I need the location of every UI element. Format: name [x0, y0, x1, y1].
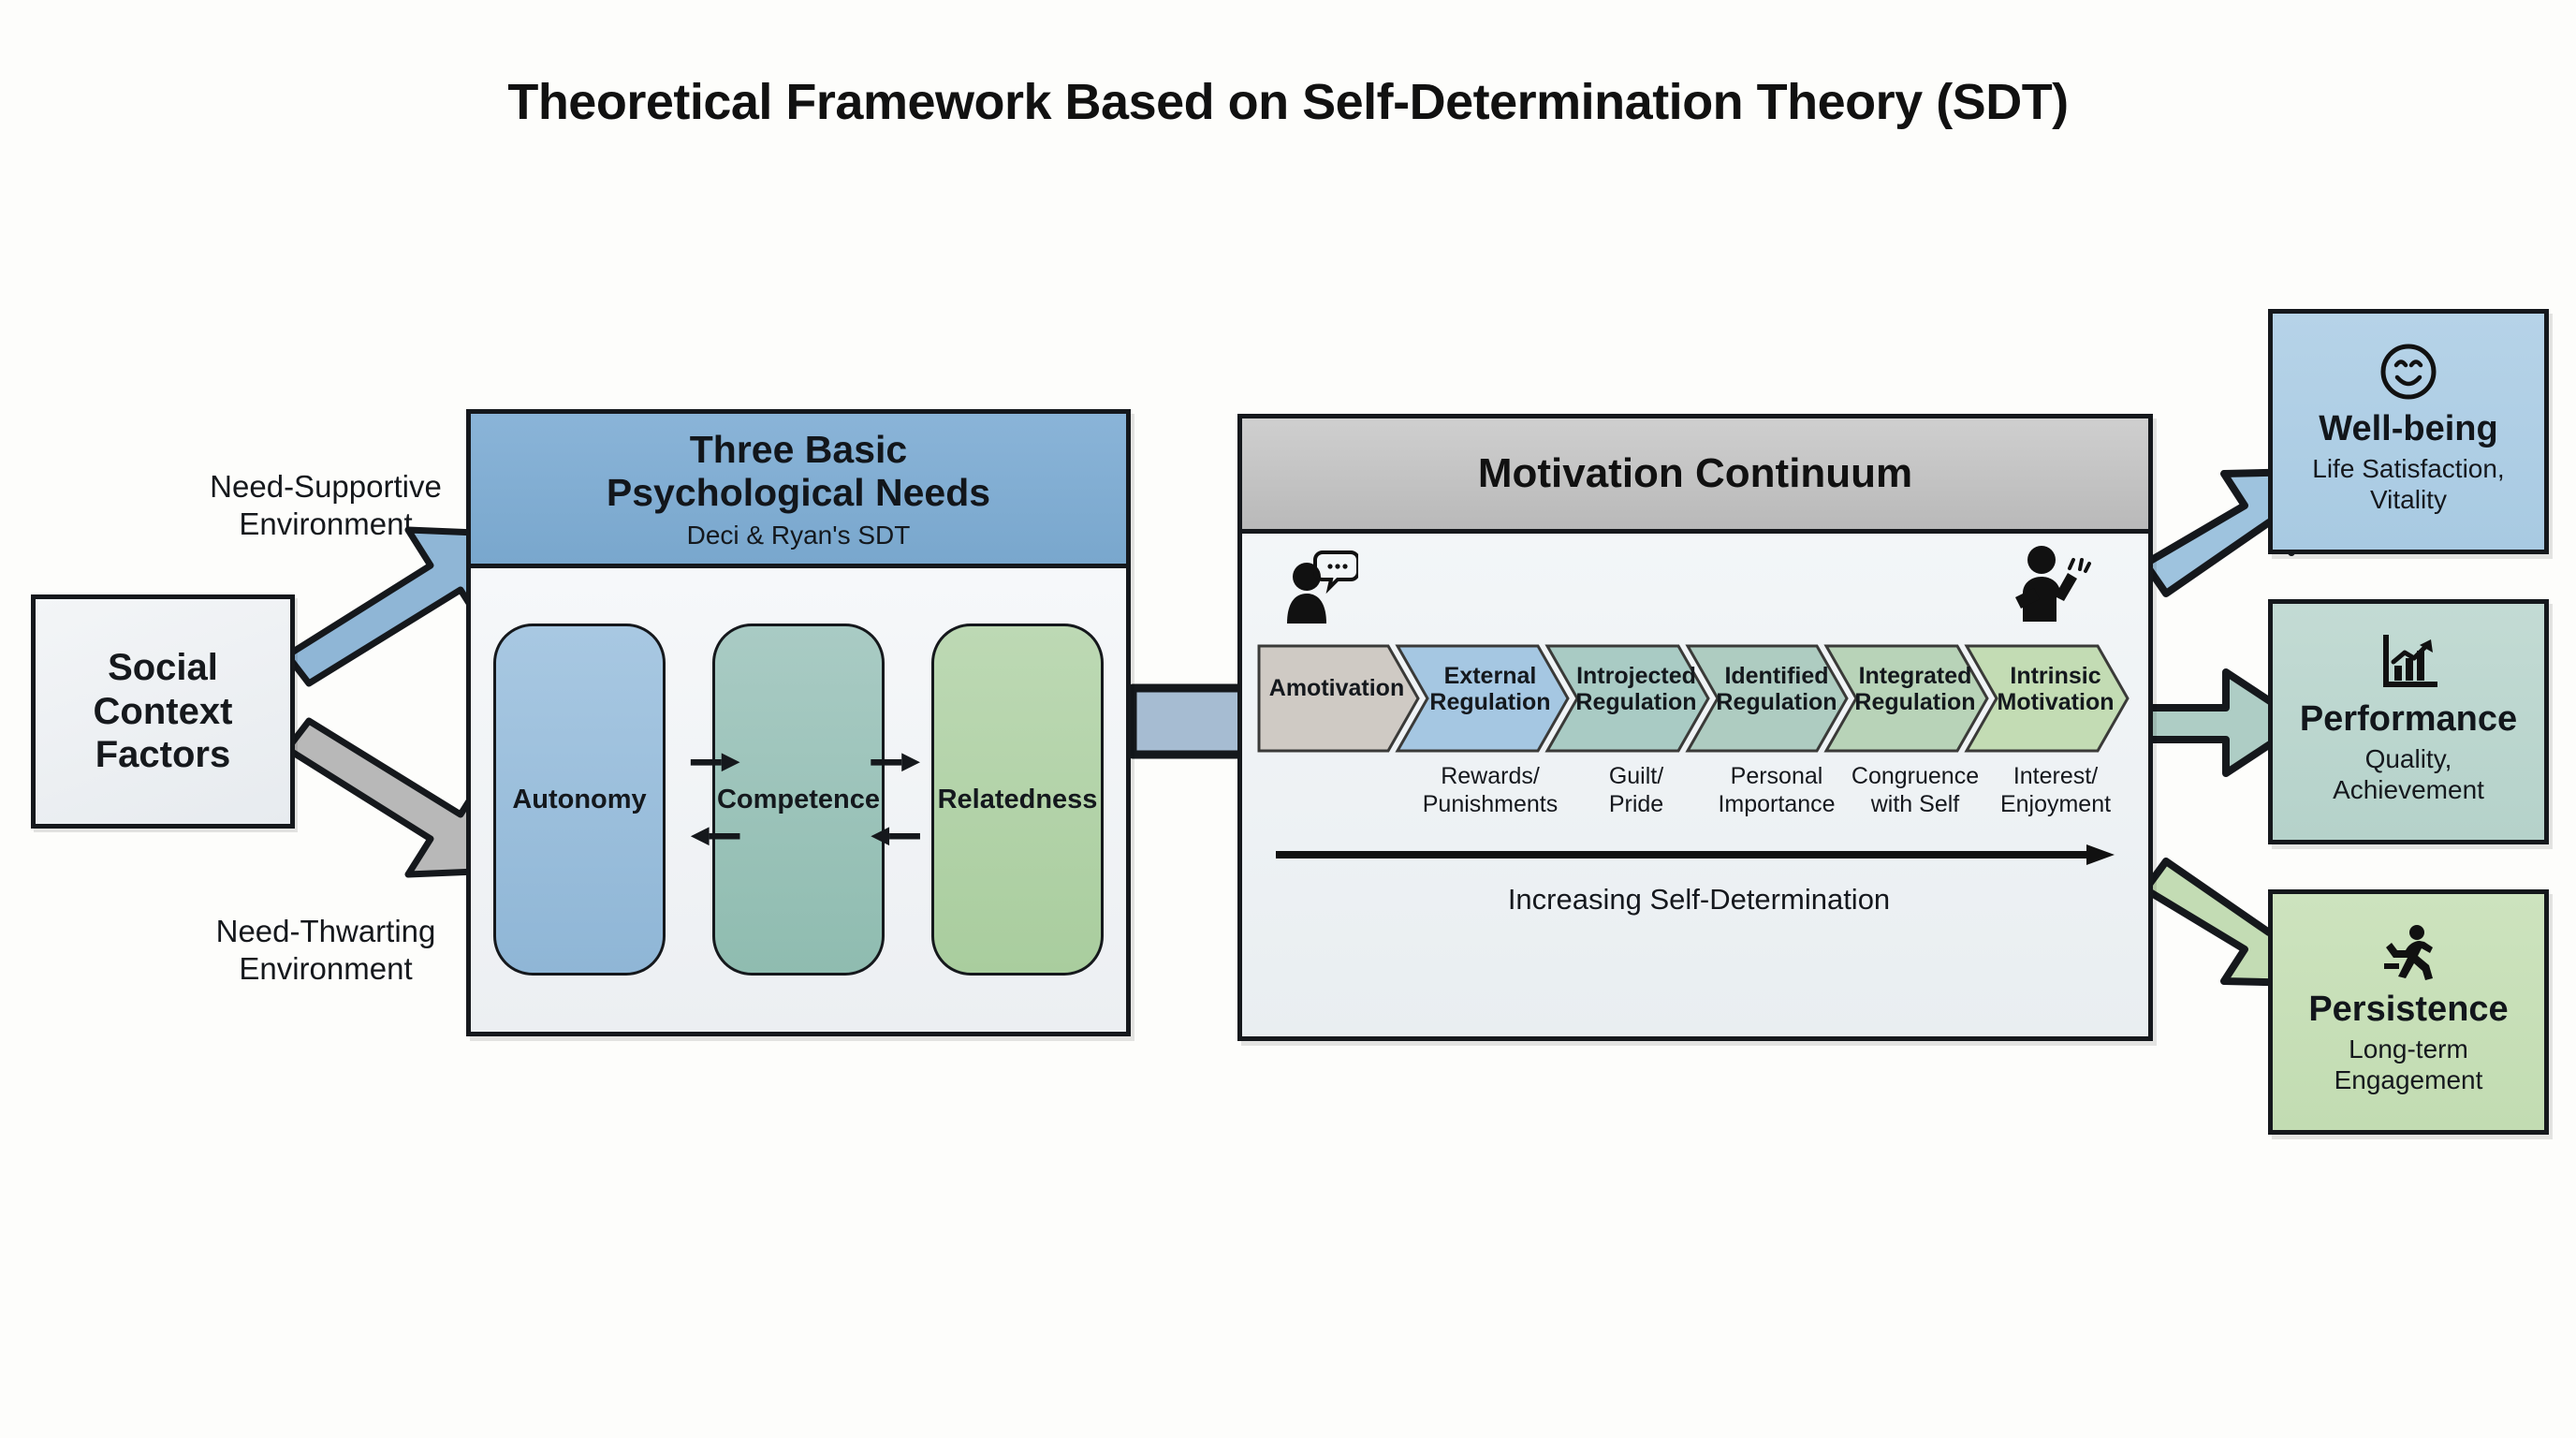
self-determination-axis: Increasing Self-Determination [1274, 843, 2124, 917]
stage-caption-introjected-regulation: Guilt/ Pride [1559, 762, 1714, 818]
outcome-box-persistence: Persistence Long-term Engagement [2268, 889, 2549, 1135]
social-context-factors-box: Social Context Factors [31, 594, 295, 829]
self-determination-axis-label: Increasing Self-Determination [1274, 883, 2124, 917]
stage-caption-integrated-regulation: Congruence with Self [1839, 762, 1991, 818]
stage-label-integrated-regulation: Integrated Regulation [1839, 663, 1991, 715]
person-speech-bubble-icon [1278, 545, 1358, 630]
outcome-subtitle-performance: Quality, Achievement [2333, 743, 2484, 806]
need-label-competence: Competence [717, 785, 880, 815]
needs-panel-heading: Three Basic Psychological Needs [480, 429, 1117, 515]
stage-label-amotivation: Amotivation [1261, 676, 1412, 702]
need-label-relatedness: Relatedness [938, 785, 1098, 815]
outcome-box-wellbeing: Well-being Life Satisfaction, Vitality [2268, 309, 2549, 554]
smiley-face-icon [2378, 342, 2438, 406]
motivation-continuum-heading: Motivation Continuum [1478, 450, 1912, 497]
motivation-continuum-body: Amotivation External Regulation Introjec… [1242, 534, 2148, 1036]
stage-label-intrinsic-motivation: Intrinsic Motivation [1980, 663, 2131, 715]
outcome-subtitle-persistence: Long-term Engagement [2334, 1034, 2483, 1096]
need-pill-relatedness: Relatedness [931, 624, 1104, 976]
outcome-title-performance: Performance [2300, 700, 2517, 740]
stage-caption-identified-regulation: Personal Importance [1701, 762, 1852, 818]
outcome-box-performance: Performance Quality, Achievement [2268, 599, 2549, 844]
running-person-icon [2378, 922, 2438, 987]
three-basic-needs-panel: Three Basic Psychological Needs Deci & R… [466, 409, 1131, 1036]
outcome-subtitle-wellbeing: Life Satisfaction, Vitality [2312, 453, 2504, 516]
needs-panel-subheading: Deci & Ryan's SDT [480, 521, 1117, 550]
outcome-title-wellbeing: Well-being [2319, 410, 2497, 449]
stage-caption-intrinsic-motivation: Interest/ Enjoyment [1980, 762, 2131, 818]
continuum-caption-row: Rewards/ Punishments Guilt/ Pride Person… [1257, 762, 2133, 828]
need-supportive-environment-label: Need-Supportive Environment [176, 468, 476, 542]
diagram-canvas: Theoretical Framework Based on Self-Dete… [0, 0, 2576, 1438]
stage-label-identified-regulation: Identified Regulation [1701, 663, 1852, 715]
stage-label-external-regulation: External Regulation [1414, 663, 1566, 715]
need-label-autonomy: Autonomy [512, 785, 646, 815]
need-pill-competence: Competence [712, 624, 885, 976]
bar-chart-growth-icon [2378, 632, 2438, 697]
need-pill-autonomy: Autonomy [493, 624, 666, 976]
motivation-continuum-panel: Motivation Continuum [1237, 414, 2153, 1041]
motivation-continuum-header: Motivation Continuum [1242, 418, 2148, 534]
stage-caption-external-regulation: Rewards/ Punishments [1414, 762, 1566, 818]
needs-panel-header: Three Basic Psychological Needs Deci & R… [471, 414, 1126, 568]
person-raising-hand-icon [2008, 539, 2094, 630]
stage-label-introjected-regulation: Introjected Regulation [1559, 663, 1714, 715]
social-context-factors-label: Social Context Factors [94, 646, 233, 776]
needs-panel-body: Autonomy Competence Relatedness [471, 568, 1126, 1032]
continuum-stage-row: Amotivation External Regulation Introjec… [1257, 642, 2133, 755]
outcome-title-persistence: Persistence [2308, 990, 2508, 1030]
page-title: Theoretical Framework Based on Self-Dete… [0, 73, 2576, 131]
self-determination-axis-arrow [1274, 843, 2116, 867]
need-thwarting-environment-label: Need-Thwarting Environment [176, 913, 476, 987]
